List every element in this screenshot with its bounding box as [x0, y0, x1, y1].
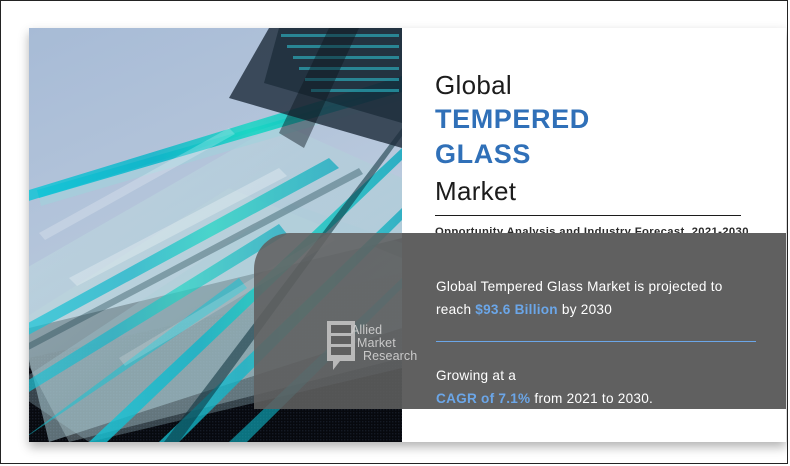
logo-text-market: Market	[357, 336, 396, 350]
headline-line-tempered: TEMPERED	[435, 104, 590, 135]
headline-block: Global TEMPERED GLASS Market Opportunity…	[402, 28, 786, 235]
cagr-statement: CAGR of 7.1% from 2021 to 2030.	[436, 391, 653, 406]
projection-statement-line2: reach $93.6 Billion by 2030	[436, 302, 612, 317]
allied-market-research-logo: Allied Market Research	[327, 321, 435, 381]
headline-line-global: Global	[435, 70, 512, 101]
report-infographic-page: Global TEMPERED GLASS Market Opportunity…	[0, 0, 788, 464]
infographic-card: Global TEMPERED GLASS Market Opportunity…	[29, 28, 786, 442]
growth-label: Growing at a	[436, 368, 516, 383]
projection-statement-line1: Global Tempered Glass Market is projecte…	[436, 279, 723, 294]
logo-text-research: Research	[363, 349, 417, 363]
projection-suffix: by 2030	[558, 302, 612, 317]
projection-value: $93.6 Billion	[475, 302, 558, 317]
logo-text-allied: Allied	[351, 323, 382, 337]
logo-bar-3	[331, 347, 351, 355]
headline-line-market: Market	[435, 176, 516, 207]
highlight-panel-divider	[436, 341, 756, 342]
highlight-panel: Allied Market Research Global Tempered G…	[254, 233, 786, 409]
projection-prefix: reach	[436, 302, 475, 317]
cagr-value: CAGR of 7.1%	[436, 391, 530, 406]
headline-line-glass: GLASS	[435, 139, 531, 170]
cagr-period: from 2021 to 2030.	[530, 391, 653, 406]
logo-bar-1	[331, 325, 351, 333]
headline-divider	[435, 215, 741, 216]
logo-bar-2	[331, 336, 351, 344]
